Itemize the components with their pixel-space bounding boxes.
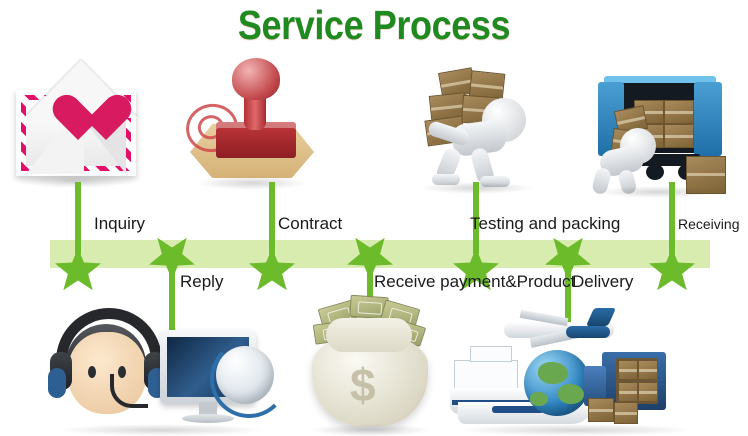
box: [664, 100, 694, 124]
box: [664, 124, 694, 148]
headphone-pad-left: [48, 368, 66, 398]
agent-shadow: [56, 424, 266, 436]
arrow-stem: [75, 182, 81, 254]
timeline-label-reply: Reply: [180, 272, 223, 292]
timeline-label-contract: Contract: [278, 214, 342, 234]
box-on-ground: [588, 398, 614, 422]
stamp-shadow: [196, 176, 308, 190]
money-bag-shadow: [308, 424, 432, 436]
landmass: [530, 392, 548, 406]
support-agent-computer-globe-icon: [48, 306, 288, 432]
monitor-foot: [182, 414, 234, 423]
service-process-diagram: Service Process: [0, 0, 748, 436]
bag-neck: [326, 318, 412, 352]
logistics-shadow: [456, 424, 696, 436]
envelope-heart-icon: [12, 62, 140, 180]
box: [638, 360, 658, 380]
box: [618, 382, 638, 402]
arrow-stem: [269, 182, 275, 254]
money-bag-icon: $: [302, 296, 438, 432]
arrow-stem: [669, 182, 675, 254]
truck-loading-icon: [590, 72, 728, 194]
ship-bridge: [470, 346, 512, 362]
box-on-ground: [614, 402, 638, 424]
heart-shape: [52, 96, 106, 146]
stamp-handle: [232, 58, 280, 100]
box: [638, 382, 658, 402]
dollar-sign-icon: $: [350, 358, 376, 412]
timeline-label-testing-and-packing: Testing and packing: [470, 214, 620, 234]
timeline-label-receive-payment-product: Receive payment&Product: [374, 272, 575, 292]
truck-shadow: [596, 186, 720, 198]
ship-superstructure: [454, 360, 518, 390]
truck-door-right: [694, 82, 722, 156]
timeline-label-inquiry: Inquiry: [94, 214, 145, 234]
earth-globe-icon: [524, 350, 590, 416]
logistics-collage-icon: [448, 306, 710, 432]
page-title: Service Process: [45, 2, 703, 49]
rubber-stamp-icon: [188, 60, 316, 182]
box: [618, 360, 638, 380]
airplane-stripe: [566, 326, 610, 338]
timeline-label-receiving: Receiving: [678, 216, 739, 232]
agent-eye-left: [88, 366, 96, 378]
truck-wheel: [646, 164, 664, 180]
globe-arrow-ring: [210, 340, 288, 418]
timeline-label-delivery: Delivery: [572, 272, 633, 292]
worker-carrying-boxes-icon: [418, 66, 538, 190]
landmass: [558, 384, 584, 404]
landmass: [538, 362, 568, 384]
